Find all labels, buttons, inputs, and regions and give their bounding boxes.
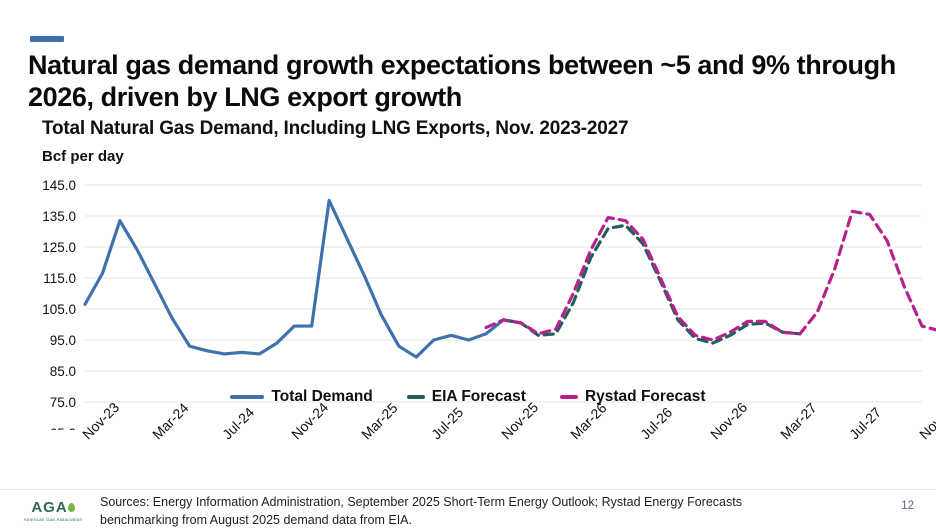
slide-canvas: Natural gas demand growth expectations b… — [0, 0, 936, 529]
logo-wordmark: AGA — [31, 499, 67, 516]
series-total-demand — [85, 201, 521, 358]
footer-divider — [0, 489, 936, 490]
y-axis-tick-label: 85.0 — [50, 364, 76, 379]
y-axis-tick-label: 135.0 — [42, 209, 76, 224]
y-axis-tick-label: 75.0 — [50, 395, 76, 410]
page-number: 12 — [901, 500, 914, 512]
line-chart: 145.0135.0125.0115.0105.095.085.075.065.… — [0, 170, 936, 430]
chart-area: 145.0135.0125.0115.0105.095.085.075.065.… — [0, 170, 936, 430]
series-eia-forecast — [504, 225, 800, 343]
sources-note: Sources: Energy Information Administrati… — [100, 494, 820, 530]
accent-bar — [30, 36, 64, 42]
chart-subtitle: Total Natural Gas Demand, Including LNG … — [42, 118, 922, 141]
chart-units-label: Bcf per day — [42, 148, 124, 165]
y-axis-tick-label: 145.0 — [42, 178, 76, 193]
aga-logo: AGA American Gas Association — [14, 500, 92, 522]
series-rystad-forecast — [486, 211, 936, 340]
logo-tagline: American Gas Association — [14, 517, 92, 522]
x-axis-tick-labels: Nov-23Mar-24Jul-24Nov-24Mar-25Jul-25Nov-… — [0, 425, 936, 495]
y-axis-tick-label: 125.0 — [42, 240, 76, 255]
y-axis-tick-label: 115.0 — [43, 271, 76, 286]
flame-icon — [68, 503, 75, 512]
y-axis-tick-label: 95.0 — [50, 333, 76, 348]
y-axis-tick-label: 105.0 — [42, 302, 76, 317]
page-title: Natural gas demand growth expectations b… — [28, 50, 908, 113]
